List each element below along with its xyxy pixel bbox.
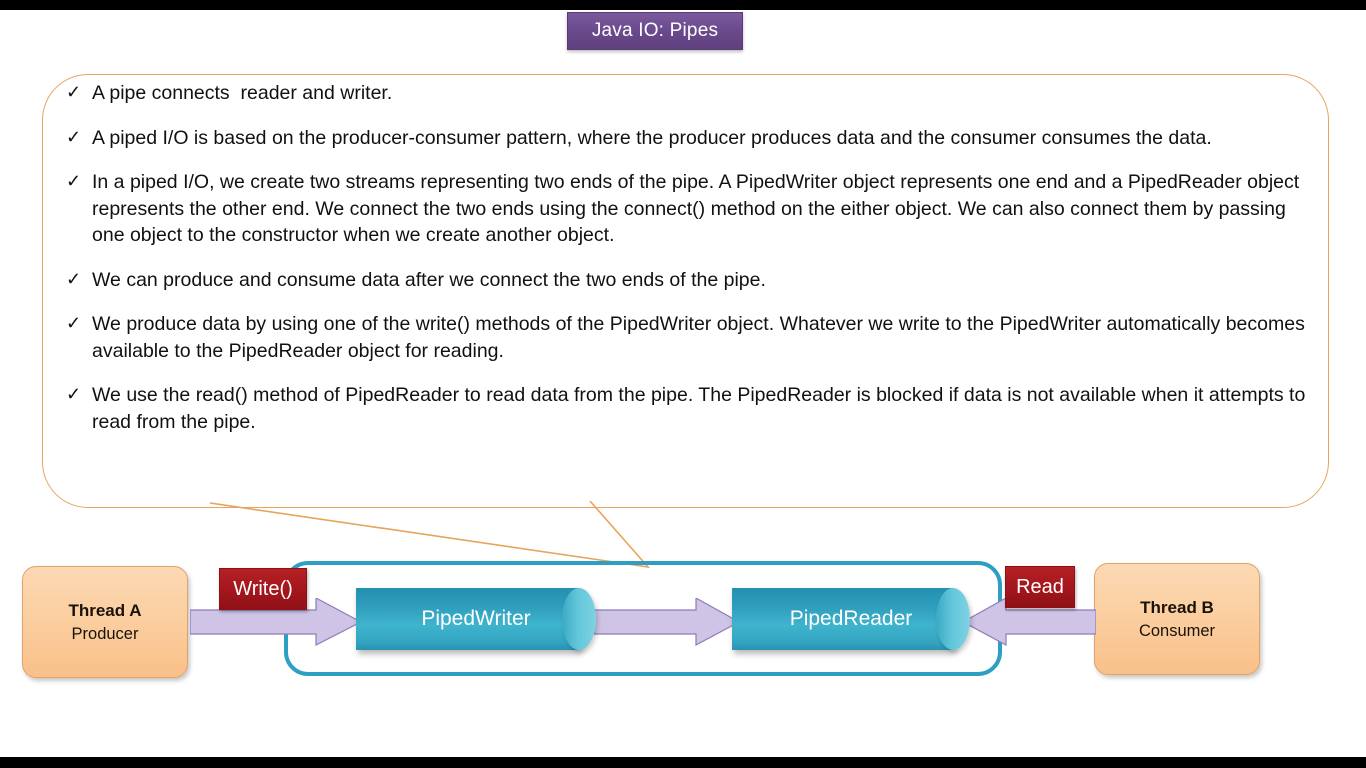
list-item: ✓ In a piped I/O, we create two streams … [66,169,1311,249]
check-icon: ✓ [66,125,92,149]
list-item: ✓ A pipe connects reader and writer. [66,80,1311,107]
list-item-text: In a piped I/O, we create two streams re… [92,169,1311,249]
piped-reader-label: PipedReader [732,588,970,650]
piped-writer-cylinder: PipedWriter [356,588,596,650]
check-icon: ✓ [66,80,92,104]
thread-a-role: Producer [72,625,139,644]
check-icon: ✓ [66,267,92,291]
bottom-black-bar [0,757,1366,768]
list-item-text: We produce data by using one of the writ… [92,311,1311,364]
thread-a-box: Thread A Producer [22,566,188,678]
piped-reader-cylinder: PipedReader [732,588,970,650]
thread-b-box: Thread B Consumer [1094,563,1260,675]
list-item: ✓ We produce data by using one of the wr… [66,311,1311,364]
list-item-text: A pipe connects reader and writer. [92,80,1311,107]
list-item-text: We can produce and consume data after we… [92,267,1311,294]
top-black-bar [0,0,1366,10]
list-item: ✓ A piped I/O is based on the producer-c… [66,125,1311,152]
check-icon: ✓ [66,382,92,406]
list-item-text: A piped I/O is based on the producer-con… [92,125,1311,152]
list-item: ✓ We use the read() method of PipedReade… [66,382,1311,435]
thread-b-name: Thread B [1140,598,1214,618]
list-item: ✓ We can produce and consume data after … [66,267,1311,294]
thread-a-name: Thread A [68,601,141,621]
piped-writer-label: PipedWriter [356,588,596,650]
check-icon: ✓ [66,311,92,335]
list-item-text: We use the read() method of PipedReader … [92,382,1311,435]
bullet-list: ✓ A pipe connects reader and writer. ✓ A… [66,80,1311,453]
slide-title: Java IO: Pipes [567,12,743,50]
check-icon: ✓ [66,169,92,193]
pipe-diagram: Thread A Producer Thread B Consumer Pipe… [0,540,1366,700]
write-method-label: Write() [219,568,307,610]
read-method-label: Read [1005,566,1075,608]
arrow-writer-to-reader [594,598,740,646]
thread-b-role: Consumer [1139,622,1215,641]
